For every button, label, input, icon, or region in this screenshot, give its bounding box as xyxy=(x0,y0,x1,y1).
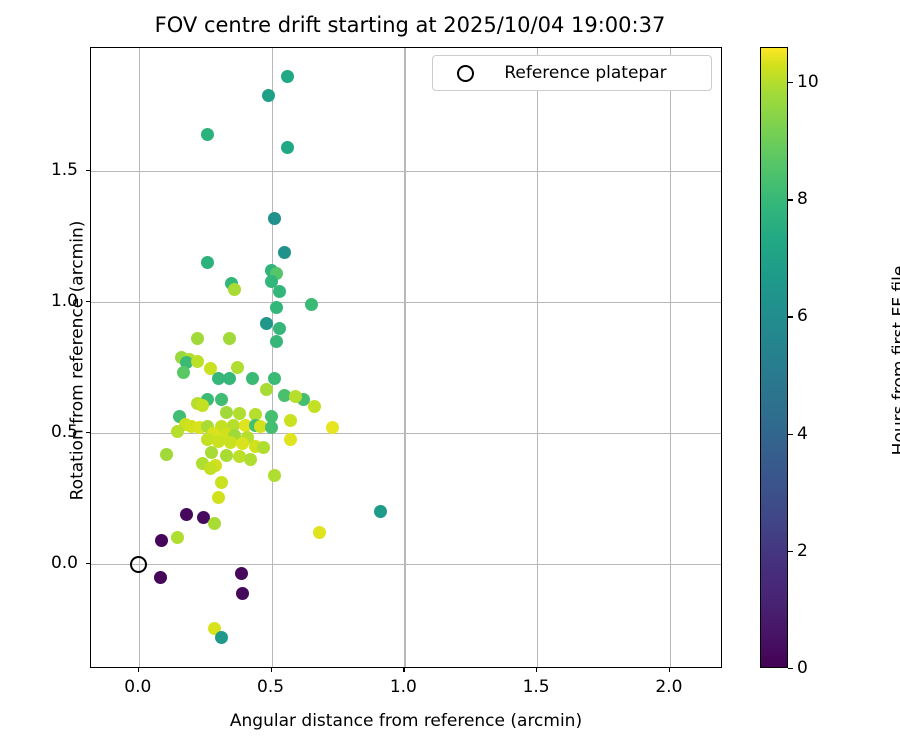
y-gridline xyxy=(91,171,721,172)
scatter-point xyxy=(215,631,228,644)
colorbar-tick-mark xyxy=(788,82,793,83)
y-gridline xyxy=(91,302,721,303)
colorbar-label: Hours from first FF file xyxy=(890,161,900,561)
scatter-point xyxy=(270,335,283,348)
scatter-point xyxy=(236,437,249,450)
scatter-plot-figure: FOV centre drift starting at 2025/10/04 … xyxy=(0,0,900,750)
x-gridline xyxy=(272,48,273,667)
y-tick-mark xyxy=(86,563,90,564)
scatter-point xyxy=(208,517,221,530)
colorbar-tick-label: 6 xyxy=(797,306,808,326)
y-tick-label: 0.5 xyxy=(8,422,78,442)
scatter-point xyxy=(154,571,167,584)
scatter-point xyxy=(305,298,318,311)
scatter-point xyxy=(201,256,214,269)
legend-box[interactable]: Reference platepar xyxy=(432,55,712,91)
scatter-point xyxy=(205,446,218,459)
colorbar-tick-label: 8 xyxy=(797,189,808,209)
scatter-point xyxy=(177,366,190,379)
scatter-point xyxy=(191,355,204,368)
scatter-point xyxy=(215,393,228,406)
x-tick-label: 1.5 xyxy=(501,677,571,697)
y-gridline xyxy=(91,564,721,565)
colorbar-tick-label: 4 xyxy=(797,424,808,444)
colorbar-tick-mark xyxy=(788,551,793,552)
scatter-point xyxy=(201,128,214,141)
scatter-point xyxy=(268,212,281,225)
reference-platepar-marker-icon xyxy=(457,65,474,82)
y-tick-mark xyxy=(86,432,90,433)
y-tick-label: 0.0 xyxy=(8,553,78,573)
scatter-point xyxy=(289,390,302,403)
x-gridline xyxy=(537,48,538,667)
scatter-point xyxy=(215,476,228,489)
scatter-point xyxy=(204,462,217,475)
scatter-point xyxy=(220,406,233,419)
y-tick-mark xyxy=(86,170,90,171)
scatter-point xyxy=(284,433,297,446)
scatter-point xyxy=(191,332,204,345)
scatter-point xyxy=(246,372,259,385)
plot-axes-area xyxy=(90,47,722,668)
scatter-point xyxy=(273,322,286,335)
scatter-point xyxy=(281,141,294,154)
x-tick-mark xyxy=(669,668,670,672)
colorbar-tick-label: 10 xyxy=(797,72,819,92)
x-tick-label: 0.0 xyxy=(103,677,173,697)
scatter-point xyxy=(281,70,294,83)
colorbar-tick-label: 2 xyxy=(797,541,808,561)
x-tick-mark xyxy=(403,668,404,672)
x-gridline xyxy=(139,48,140,667)
x-tick-label: 1.0 xyxy=(368,677,438,697)
scatter-point xyxy=(235,567,248,580)
x-tick-mark xyxy=(138,668,139,672)
colorbar-tick-mark xyxy=(788,316,793,317)
scatter-point xyxy=(224,436,237,449)
scatter-point xyxy=(268,372,281,385)
y-gridline xyxy=(91,433,721,434)
x-gridline xyxy=(404,48,405,667)
scatter-point xyxy=(244,453,257,466)
scatter-point xyxy=(308,400,321,413)
scatter-point xyxy=(212,491,225,504)
scatter-point xyxy=(196,399,209,412)
x-axis-label: Angular distance from reference (arcmin) xyxy=(90,711,722,732)
scatter-point xyxy=(171,425,184,438)
legend-entry-label: Reference platepar xyxy=(474,63,701,83)
scatter-point xyxy=(313,526,326,539)
scatter-point xyxy=(273,285,286,298)
x-tick-mark xyxy=(271,668,272,672)
scatter-point xyxy=(262,89,275,102)
colorbar-gradient xyxy=(760,47,788,668)
scatter-point xyxy=(268,469,281,482)
x-tick-label: 2.0 xyxy=(634,677,704,697)
scatter-point xyxy=(284,414,297,427)
y-axis-label: Rotation from reference (arcmin) xyxy=(68,161,89,561)
scatter-point xyxy=(260,317,273,330)
y-tick-mark xyxy=(86,301,90,302)
scatter-point xyxy=(155,534,168,547)
scatter-point xyxy=(236,587,249,600)
scatter-point xyxy=(374,505,387,518)
scatter-point xyxy=(278,246,291,259)
y-tick-label: 1.5 xyxy=(8,160,78,180)
scatter-point xyxy=(220,449,233,462)
scatter-point xyxy=(223,372,236,385)
scatter-point xyxy=(228,283,241,296)
scatter-point xyxy=(223,332,236,345)
colorbar-tick-label: 0 xyxy=(797,658,808,678)
colorbar-tick-mark xyxy=(788,434,793,435)
x-tick-label: 0.5 xyxy=(236,677,306,697)
x-gridline xyxy=(670,48,671,667)
scatter-point xyxy=(180,508,193,521)
colorbar-tick-mark xyxy=(788,199,793,200)
x-tick-mark xyxy=(536,668,537,672)
colorbar-tick-mark xyxy=(788,668,793,669)
scatter-point xyxy=(171,531,184,544)
scatter-point xyxy=(257,441,270,454)
y-tick-label: 1.0 xyxy=(8,291,78,311)
scatter-point xyxy=(270,301,283,314)
reference-platepar-point xyxy=(130,556,147,573)
page-title: FOV centre drift starting at 2025/10/04 … xyxy=(0,12,820,38)
scatter-point xyxy=(160,448,173,461)
